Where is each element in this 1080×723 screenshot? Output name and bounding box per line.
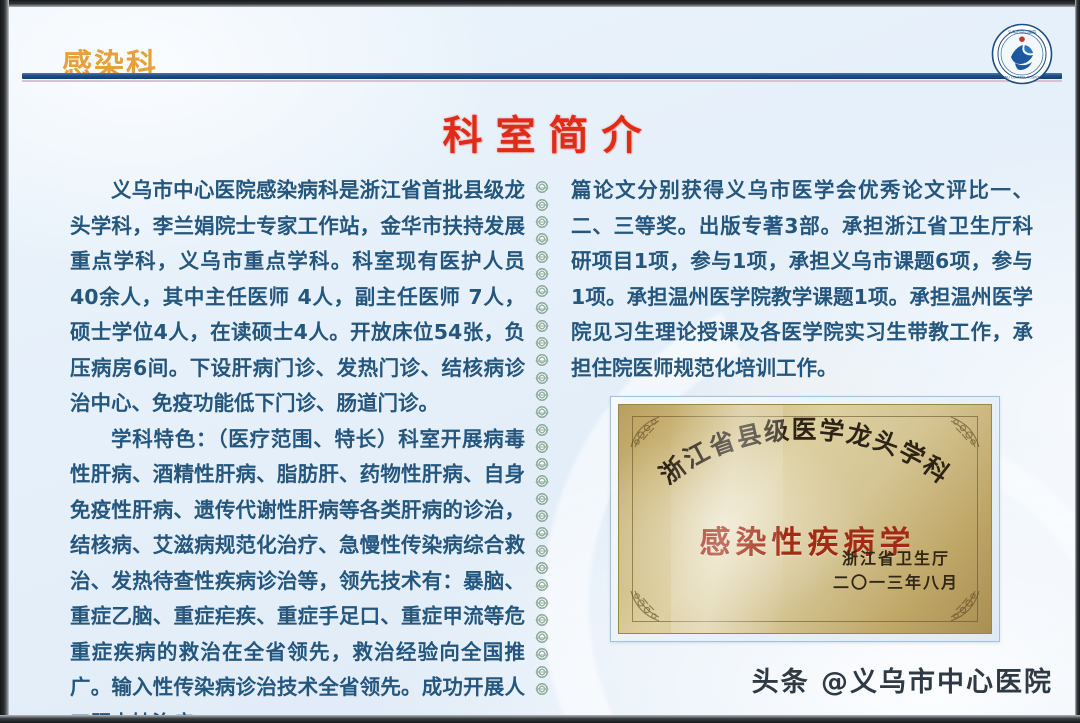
- slide-bezel-left: [0, 0, 9, 723]
- slide-bezel-right: [1075, 0, 1080, 723]
- divider-motif: [534, 404, 550, 421]
- divider-motif: [534, 248, 550, 265]
- divider-motif: [534, 542, 550, 559]
- section-title: 科室简介: [9, 103, 1075, 161]
- award-plaque: 浙江省县级医学龙头学科 感染性疾病学 浙江省卫生厅 二〇一三年八月: [618, 404, 992, 634]
- slide-bezel-bottom: [0, 715, 1080, 723]
- divider-motif: [534, 231, 550, 248]
- divider-motif: [534, 369, 550, 386]
- svg-text:YIWU CENTRAL HOSPITAL: YIWU CENTRAL HOSPITAL: [1001, 76, 1043, 80]
- divider-motif: [534, 421, 550, 438]
- plaque-arch-title: 浙江省县级医学龙头学科: [619, 413, 991, 533]
- paragraph-overview: 义乌市中心医院感染病科是浙江省首批县级龙头学科，李兰娟院士专家工作站，金华市扶持…: [70, 173, 525, 422]
- divider-motif: [534, 525, 550, 542]
- divider-motif: [534, 490, 550, 507]
- svg-text:浙江省县级医学龙头学科: 浙江省县级医学龙头学科: [654, 415, 956, 490]
- divider-motif: [534, 214, 550, 231]
- header-rule-navy: [22, 73, 1062, 79]
- divider-motif: [534, 283, 550, 300]
- column-divider-ornament: [533, 179, 551, 697]
- divider-motif: [534, 179, 550, 196]
- divider-motif: [534, 473, 550, 490]
- slide-canvas: 感染科 义乌市中心医院 YIWU CENTRAL HOSPITAL 科室简介: [9, 7, 1075, 715]
- header-rule-accent: [22, 80, 1062, 82]
- plaque-arch-text: 浙江省县级医学龙头学科: [654, 415, 956, 490]
- divider-motif: [534, 629, 550, 646]
- divider-motif: [534, 265, 550, 282]
- divider-motif: [534, 611, 550, 628]
- body-column-right: 篇论文分别获得义乌市医学会优秀论文评比一、二、三等奖。出版专著3部。承担浙江省卫…: [571, 173, 1033, 386]
- divider-motif: [534, 335, 550, 352]
- award-plaque-photo: 浙江省县级医学龙头学科 感染性疾病学 浙江省卫生厅 二〇一三年八月: [610, 396, 1000, 642]
- divider-motif: [534, 646, 550, 663]
- slide-bezel-top: [0, 0, 1080, 7]
- plaque-corner-ornament-icon: [629, 585, 673, 625]
- divider-motif: [534, 196, 550, 213]
- divider-motif: [534, 300, 550, 317]
- divider-motif: [534, 560, 550, 577]
- paragraph-specialties: 学科特色：（医疗范围、特长）科室开展病毒性肝病、酒精性肝病、脂肪肝、药物性肝病、…: [70, 422, 525, 716]
- plaque-issuer: 浙江省卫生厅: [833, 547, 959, 571]
- paragraph-achievements-cont: 篇论文分别获得义乌市医学会优秀论文评比一、二、三等奖。出版专著3部。承担浙江省卫…: [571, 173, 1033, 386]
- source-watermark: 头条 @义乌市中心医院: [752, 660, 1053, 699]
- divider-motif: [534, 663, 550, 680]
- divider-motif: [534, 594, 550, 611]
- svg-text:义乌市中心医院: 义乌市中心医院: [1008, 28, 1037, 34]
- divider-motif: [534, 438, 550, 455]
- plaque-signature-block: 浙江省卫生厅 二〇一三年八月: [833, 547, 959, 595]
- divider-motif: [534, 352, 550, 369]
- plaque-date: 二〇一三年八月: [833, 571, 959, 595]
- presentation-slide-frame: 感染科 义乌市中心医院 YIWU CENTRAL HOSPITAL 科室简介: [0, 0, 1080, 723]
- divider-motif: [534, 508, 550, 525]
- divider-motif: [534, 456, 550, 473]
- divider-motif: [534, 387, 550, 404]
- body-column-left: 义乌市中心医院感染病科是浙江省首批县级龙头学科，李兰娟院士专家工作站，金华市扶持…: [70, 173, 525, 715]
- divider-motif: [534, 317, 550, 334]
- divider-motif: [534, 577, 550, 594]
- slide-header: 感染科 义乌市中心医院 YIWU CENTRAL HOSPITAL: [9, 7, 1075, 89]
- hospital-emblem-icon: 义乌市中心医院 YIWU CENTRAL HOSPITAL: [991, 23, 1053, 85]
- divider-motif: [534, 681, 550, 698]
